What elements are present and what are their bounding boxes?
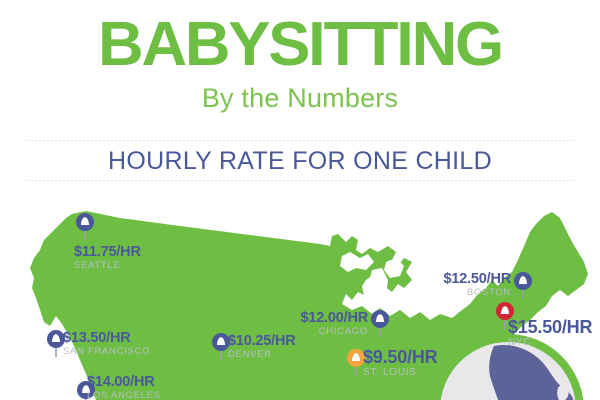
map-label-nyc: $15.50/HR NYC <box>508 318 592 348</box>
rate-value: $13.50/HR <box>63 331 150 346</box>
infographic-canvas: BABYSITTING By the Numbers HOURLY RATE F… <box>0 0 600 400</box>
map-label-boston: $12.50/HR BOSTON <box>381 272 511 298</box>
map-pin-chicago[interactable] <box>370 310 390 338</box>
city-name: SEATTLE <box>74 260 141 271</box>
rate-value: $12.00/HR <box>238 311 368 326</box>
rate-value: $15.50/HR <box>508 318 592 337</box>
city-name: SAN FRANCISCO <box>63 346 150 357</box>
map-label-chicago: $12.00/HR CHICAGO <box>238 311 368 337</box>
map-pin-boston[interactable] <box>513 272 533 300</box>
map-label-st-louis: $9.50/HR ST. LOUIS <box>363 348 437 378</box>
pin-icon <box>370 310 390 338</box>
city-name: DENVER <box>228 349 296 360</box>
city-name: NYC <box>508 337 592 348</box>
rate-value: $9.50/HR <box>363 348 437 367</box>
map-label-denver: $10.25/HR DENVER <box>228 334 296 360</box>
map-label-san-francisco: $13.50/HR SAN FRANCISCO <box>63 331 150 357</box>
divider-bottom <box>26 180 574 181</box>
header: BABYSITTING By the Numbers <box>0 0 600 132</box>
page-title: BABYSITTING <box>0 14 600 76</box>
map-label-seattle: $11.75/HR SEATTLE <box>74 245 141 271</box>
city-name: BOSTON <box>381 287 511 298</box>
divider-top <box>26 140 574 141</box>
map-label-los-angeles: $14.00/HR LOS ANGELES <box>87 375 161 400</box>
rate-value: $11.75/HR <box>74 245 141 260</box>
rate-value: $12.50/HR <box>381 272 511 287</box>
map-pin-seattle[interactable] <box>75 213 95 241</box>
page-subtitle: By the Numbers <box>0 84 600 112</box>
city-name: LOS ANGELES <box>87 390 161 400</box>
rate-value: $14.00/HR <box>87 375 161 390</box>
city-name: ST. LOUIS <box>363 367 437 378</box>
section-band: HOURLY RATE FOR ONE CHILD <box>0 140 600 188</box>
pin-icon <box>513 272 533 300</box>
section-heading: HOURLY RATE FOR ONE CHILD <box>0 147 600 175</box>
pin-icon <box>75 213 95 241</box>
city-name: CHICAGO <box>238 326 368 337</box>
